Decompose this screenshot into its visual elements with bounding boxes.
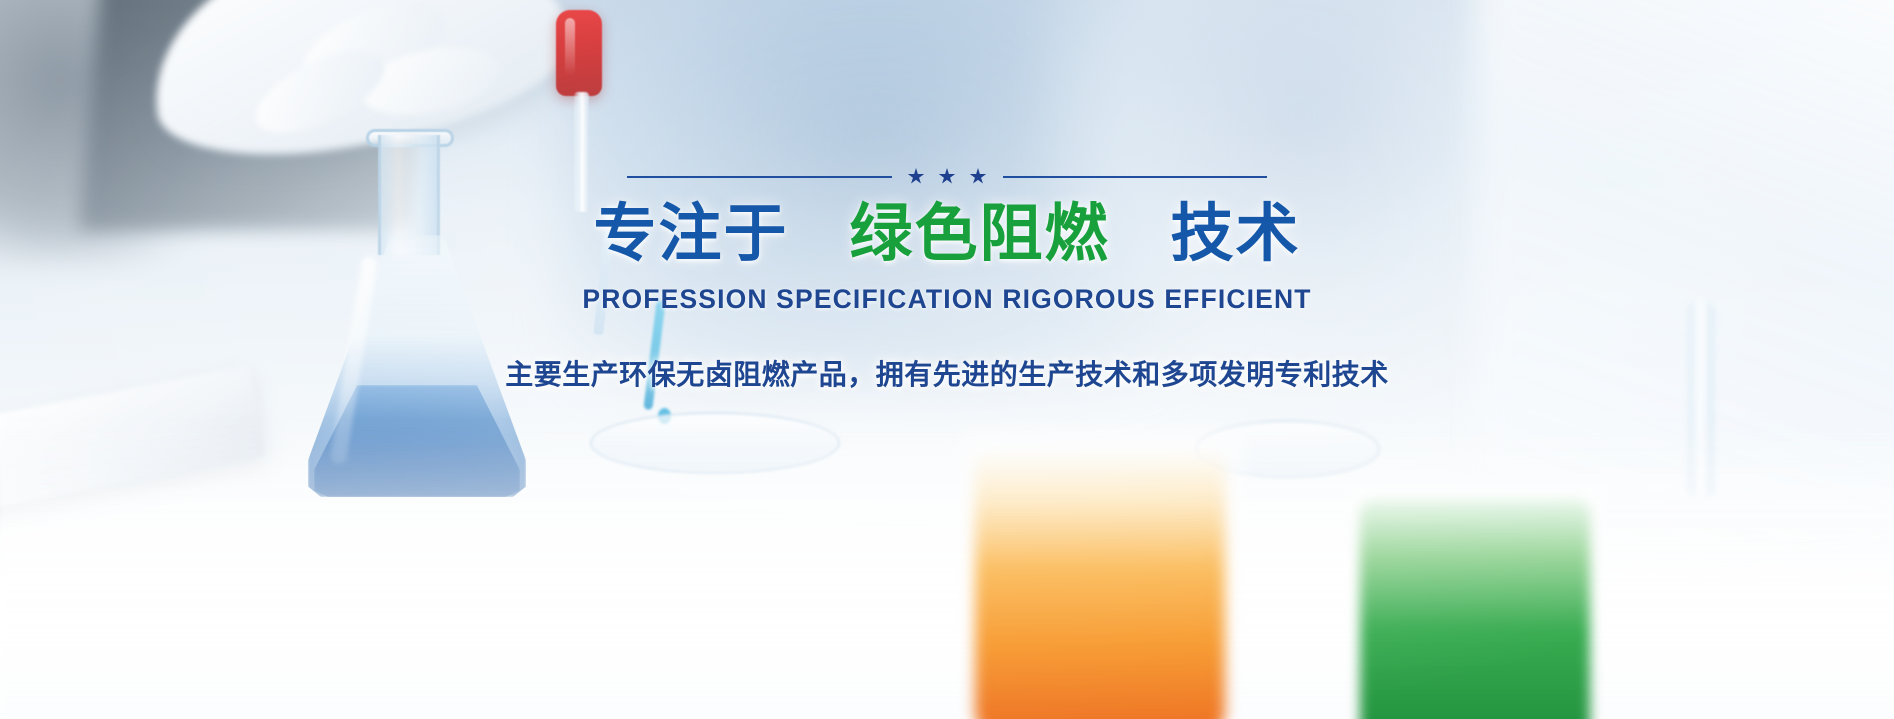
rule-line-left xyxy=(627,176,892,178)
flask-liquid-orange xyxy=(975,448,1225,719)
star-icon xyxy=(908,168,925,185)
hero-banner: 专注于 绿色阻燃 技术 PROFESSION SPECIFICATION RIG… xyxy=(0,0,1894,719)
rule-line-right xyxy=(1003,176,1268,178)
pipette-bulb xyxy=(556,10,602,96)
decorative-rule xyxy=(627,168,1267,185)
headline-part-3: 技术 xyxy=(1171,199,1301,269)
star-group xyxy=(908,168,987,185)
star-icon xyxy=(970,168,987,185)
subtitle-english: PROFESSION SPECIFICATION RIGOROUS EFFICI… xyxy=(582,284,1311,315)
star-icon xyxy=(939,168,956,185)
flask-liquid-green xyxy=(1360,500,1590,719)
lab-table-surface xyxy=(0,419,1894,719)
headline-part-2: 绿色阻燃 xyxy=(850,199,1110,269)
headline-part-1: 专注于 xyxy=(593,199,788,269)
page-title: 专注于 绿色阻燃 技术 xyxy=(593,199,1300,270)
description-chinese: 主要生产环保无卤阻燃产品，拥有先进的生产技术和多项发明专利技术 xyxy=(505,353,1389,393)
banner-content: 专注于 绿色阻燃 技术 PROFESSION SPECIFICATION RIG… xyxy=(0,168,1894,393)
